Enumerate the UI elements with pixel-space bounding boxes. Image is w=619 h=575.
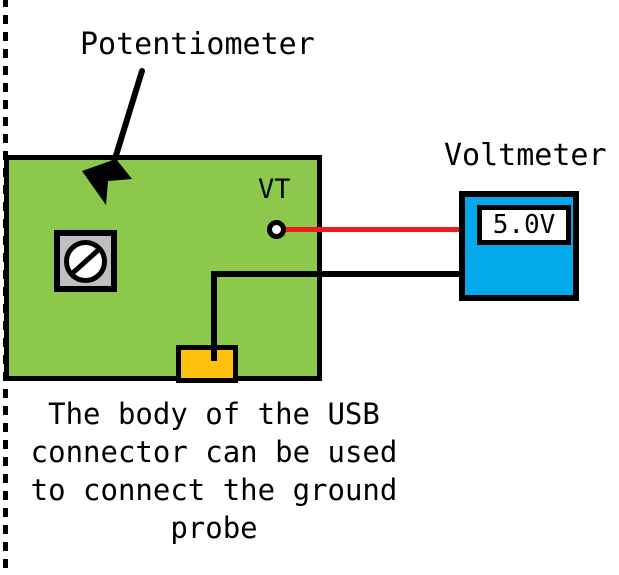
caption-line-2: connector can be used: [14, 433, 414, 471]
voltmeter-body: 5.0V: [459, 191, 579, 301]
vt-pin-label: VT: [258, 176, 291, 203]
vt-test-point[interactable]: [267, 220, 286, 239]
voltmeter-display-panel: 5.0V: [477, 205, 571, 245]
potentiometer-knob-icon[interactable]: [63, 239, 108, 284]
potentiometer-callout-arrow-icon: [70, 55, 180, 220]
voltmeter-label: Voltmeter: [444, 139, 607, 173]
caption-line-4: probe: [14, 509, 414, 547]
diagram-canvas: Potentiometer VT Voltmeter 5.0V The body…: [0, 0, 619, 575]
voltmeter-reading: 5.0V: [493, 212, 556, 238]
caption-line-3: to connect the ground: [14, 471, 414, 509]
caption-line-1: The body of the USB: [14, 395, 414, 433]
caption-text: The body of the USB connector can be use…: [14, 395, 414, 547]
usb-connector: [176, 345, 238, 383]
black-ground-wire-vertical: [211, 271, 217, 361]
red-signal-wire: [280, 227, 462, 232]
black-ground-wire-horizontal: [211, 271, 462, 277]
